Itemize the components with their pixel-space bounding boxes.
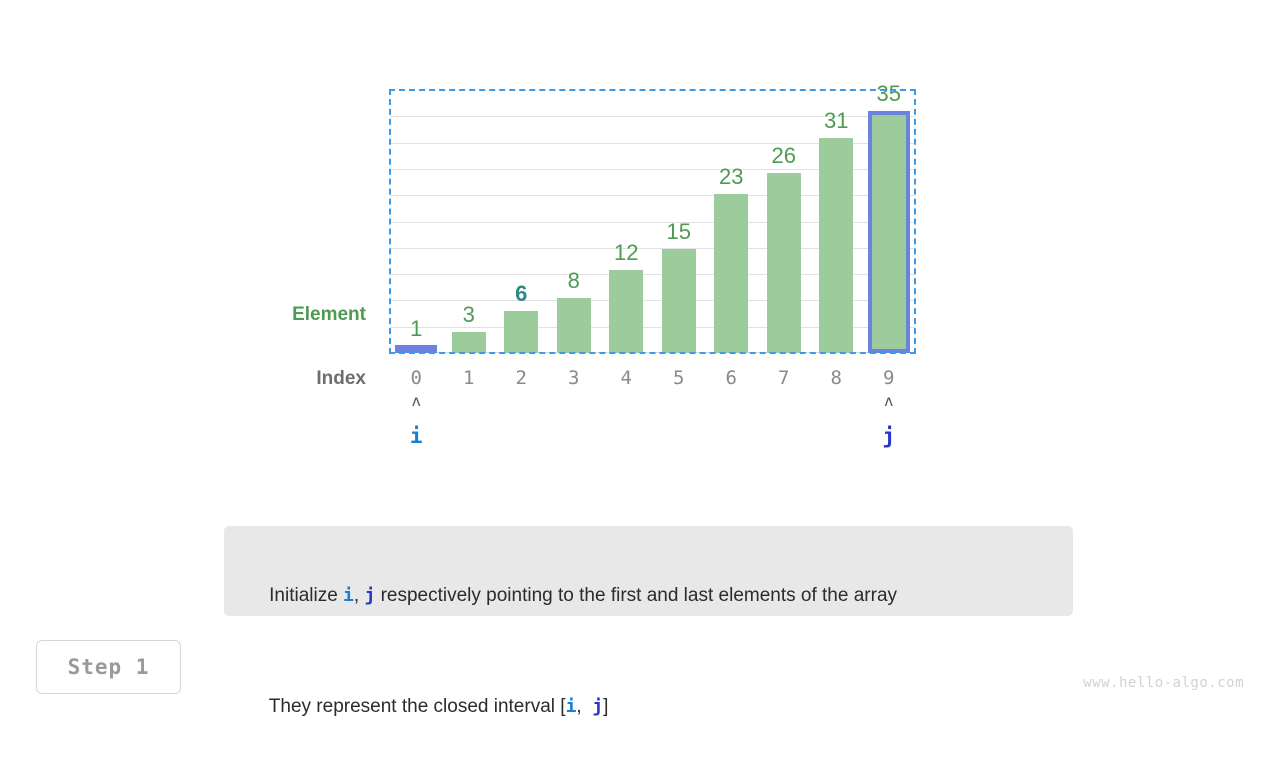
caption-pointer-i: i: [566, 696, 577, 717]
caption-line-2: They represent the closed interval [i, j…: [248, 651, 1049, 762]
pointer-label-j: j: [863, 426, 916, 447]
bar: [609, 270, 643, 353]
bar-value-label: 15: [667, 221, 691, 243]
bar-column: 3: [443, 90, 496, 353]
pointer-slot: [653, 394, 706, 447]
caption-line-1: Initialize i, j respectively pointing to…: [248, 540, 1049, 651]
bar-column: 6: [495, 90, 548, 353]
pointer-slot: [758, 394, 811, 447]
index-tick-7: 7: [758, 368, 811, 389]
bar-value-label: 35: [877, 83, 901, 105]
bar-series: 1368121523263135: [390, 90, 915, 353]
index-tick-0: 0: [390, 368, 443, 389]
caption-bracket-close: ]: [603, 696, 608, 717]
bar-highlighted: [395, 345, 437, 353]
pointer-slot: ʌi: [390, 394, 443, 447]
bar-column: 23: [705, 90, 758, 353]
pointer-slot: [705, 394, 758, 447]
pointer-slot: [495, 394, 548, 447]
pointer-row: ʌiʌj: [390, 394, 915, 447]
pointer-slot: [810, 394, 863, 447]
bar-chart: 1368121523263135: [390, 90, 915, 353]
bar: [504, 311, 538, 353]
index-tick-4: 4: [600, 368, 653, 389]
pointer-slot: [443, 394, 496, 447]
caption-text: They represent the closed interval: [269, 696, 561, 717]
bar-highlighted: [868, 111, 910, 353]
bar-value-label: 12: [614, 242, 638, 264]
bar-value-label: 3: [463, 304, 475, 326]
caption-text: ,: [354, 585, 365, 606]
pointer-caret-icon: ʌ: [390, 394, 443, 412]
bar: [557, 298, 591, 353]
index-axis: 0123456789: [390, 368, 915, 389]
bar-value-label: 26: [772, 145, 796, 167]
caption-box: Initialize i, j respectively pointing to…: [224, 526, 1073, 616]
caption-text: respectively pointing to the first and l…: [375, 585, 897, 606]
index-tick-6: 6: [705, 368, 758, 389]
index-tick-5: 5: [653, 368, 706, 389]
index-tick-1: 1: [443, 368, 496, 389]
bar-value-label: 1: [410, 318, 422, 340]
index-tick-9: 9: [863, 368, 916, 389]
index-tick-3: 3: [548, 368, 601, 389]
bar-column: 35: [863, 90, 916, 353]
index-tick-8: 8: [810, 368, 863, 389]
bar-value-label: 31: [824, 110, 848, 132]
bar-column: 12: [600, 90, 653, 353]
caption-pointer-j: j: [364, 585, 375, 606]
pointer-slot: [600, 394, 653, 447]
pointer-caret-icon: ʌ: [863, 394, 916, 412]
bar-column: 15: [653, 90, 706, 353]
pointer-slot: [548, 394, 601, 447]
caption-pointer-i: i: [343, 585, 354, 606]
bar-value-label: 23: [719, 166, 743, 188]
pointer-slot: ʌj: [863, 394, 916, 447]
bar-value-label: 6: [515, 283, 527, 305]
watermark: www.hello-algo.com: [1083, 675, 1244, 691]
bar: [714, 194, 748, 353]
bar: [767, 173, 801, 353]
bar-column: 26: [758, 90, 811, 353]
bar: [819, 138, 853, 353]
bar-column: 1: [390, 90, 443, 353]
step-badge: Step 1: [36, 640, 181, 694]
bar-column: 8: [548, 90, 601, 353]
bar-column: 31: [810, 90, 863, 353]
caption-text: Initialize: [269, 585, 343, 606]
index-row-label: Index: [180, 368, 366, 390]
caption-text: ,: [576, 696, 592, 717]
index-tick-2: 2: [495, 368, 548, 389]
element-row-label: Element: [180, 304, 366, 326]
caption-pointer-j: j: [592, 696, 603, 717]
bar: [662, 249, 696, 353]
pointer-label-i: i: [390, 426, 443, 447]
bar-value-label: 8: [568, 270, 580, 292]
bar: [452, 332, 486, 353]
